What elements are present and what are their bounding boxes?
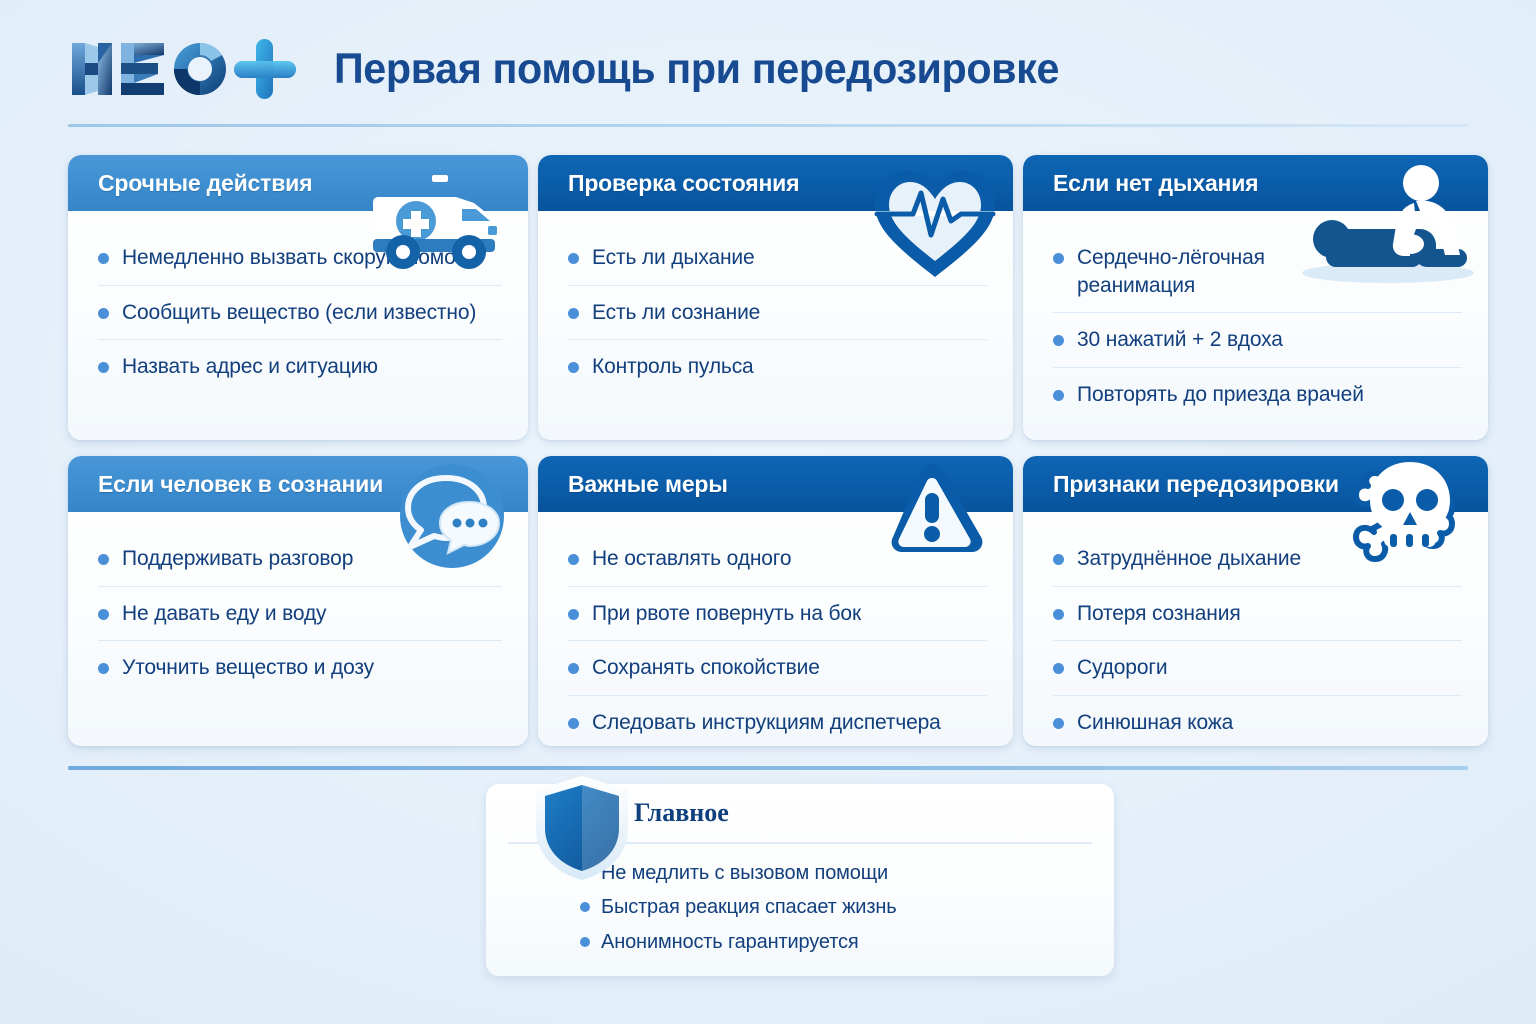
list-item-label: Уточнить вещество и дозу <box>122 654 374 682</box>
bullet-dot <box>98 609 109 620</box>
list-item[interactable]: Не давать еду и воду <box>98 587 502 642</box>
card-overdose-signs[interactable]: Признаки передозировки Затруднён <box>1023 456 1488 746</box>
header-divider <box>68 124 1468 127</box>
list-item[interactable]: Анонимность гарантируется <box>580 925 897 959</box>
list-item[interactable]: Синюшная кожа <box>1053 696 1462 750</box>
list-item[interactable]: Не оставлять одного <box>568 532 987 587</box>
page-title: Первая помощь при передозировке <box>334 45 1059 94</box>
bullet-dot <box>98 663 109 674</box>
list-item[interactable]: Уточнить вещество и дозу <box>98 641 502 695</box>
list-item-label: Повторять до приезда врачей <box>1077 381 1364 409</box>
list-item[interactable]: Контроль пульса <box>568 340 987 394</box>
list-item[interactable]: Поддерживать разговор <box>98 532 502 587</box>
list-item-label: Потеря сознания <box>1077 600 1241 628</box>
bullet-dot <box>580 902 590 912</box>
list-item-label: Затруднённое дыхание <box>1077 545 1301 573</box>
list-item-label: Синюшная кожа <box>1077 709 1233 737</box>
bullet-dot <box>1053 718 1064 729</box>
list-item-label: Контроль пульса <box>592 353 754 381</box>
list-item[interactable]: 30 нажатий + 2 вдоха <box>1053 313 1462 368</box>
bullet-dot <box>98 554 109 565</box>
list-item-label: Поддерживать разговор <box>122 545 353 573</box>
bullet-dot <box>568 308 579 319</box>
list-item-label: Следовать инструкциям диспетчера <box>592 709 941 737</box>
list-item[interactable]: Повторять до приезда врачей <box>1053 368 1462 422</box>
list-item-label: Сообщить вещество (если известно) <box>122 299 476 327</box>
list-item[interactable]: Есть ли дыхание <box>568 231 987 286</box>
footer-divider <box>68 766 1468 770</box>
list-item[interactable]: Потеря сознания <box>1053 587 1462 642</box>
list-item[interactable]: Быстрая реакция спасает жизнь <box>580 890 897 924</box>
list-item[interactable]: Сердечно-лёгочная реанимация <box>1053 231 1462 313</box>
card-header: Срочные действия <box>68 155 528 211</box>
bullet-dot <box>580 937 590 947</box>
list-item[interactable]: Затруднённое дыхание <box>1053 532 1462 587</box>
card-bullet-list: Поддерживать разговор Не давать еду и во… <box>98 532 502 695</box>
list-item-label: Есть ли сознание <box>592 299 760 327</box>
bullet-dot <box>1053 335 1064 346</box>
list-item-label: Сердечно-лёгочная реанимация <box>1077 244 1337 299</box>
list-item-label: Анонимность гарантируется <box>601 929 859 955</box>
list-item-label: Немедленно вызвать скорую помощь <box>122 244 484 272</box>
card-header: Если нет дыхания <box>1023 155 1488 211</box>
card-title: Если человек в сознании <box>98 471 383 498</box>
card-urgent-actions[interactable]: Срочные действия Немедленно вызвать <box>68 155 528 440</box>
bullet-dot <box>1053 390 1064 401</box>
list-item-label: Не давать еду и воду <box>122 600 326 628</box>
list-item-label: Не медлить с вызовом помощи <box>601 860 888 886</box>
list-item-label: 30 нажатий + 2 вдоха <box>1077 326 1283 354</box>
cards-grid: Срочные действия Немедленно вызвать <box>68 155 1468 746</box>
card-header: Важные меры <box>538 456 1013 512</box>
bullet-dot <box>568 609 579 620</box>
list-item-label: Быстрая реакция спасает жизнь <box>601 894 897 920</box>
bullet-dot <box>568 362 579 373</box>
card-condition-check[interactable]: Проверка состояния Есть ли дыхание Есть … <box>538 155 1013 440</box>
list-item[interactable]: Назвать адрес и ситуацию <box>98 340 502 394</box>
card-title: Признаки передозировки <box>1053 471 1339 498</box>
list-item[interactable]: При рвоте повернуть на бок <box>568 587 987 642</box>
summary-title: Главное <box>634 798 729 828</box>
card-bullet-list: Немедленно вызвать скорую помощь Сообщит… <box>98 231 502 394</box>
shield-icon <box>530 772 634 889</box>
card-bullet-list: Не оставлять одного При рвоте повернуть … <box>568 532 987 750</box>
neo-plus-logo <box>68 37 300 101</box>
bullet-dot <box>98 362 109 373</box>
list-item[interactable]: Судороги <box>1053 641 1462 696</box>
list-item-label: Не оставлять одного <box>592 545 791 573</box>
card-title: Срочные действия <box>98 170 312 197</box>
page-header: Первая помощь при передозировке <box>68 26 1468 112</box>
bullet-dot <box>98 308 109 319</box>
bullet-dot <box>1053 609 1064 620</box>
list-item[interactable]: Сообщить вещество (если известно) <box>98 286 502 341</box>
card-header: Признаки передозировки <box>1023 456 1488 512</box>
list-item-label: Есть ли дыхание <box>592 244 755 272</box>
card-header: Если человек в сознании <box>68 456 528 512</box>
list-item-label: Судороги <box>1077 654 1167 682</box>
bullet-dot <box>568 663 579 674</box>
summary-panel[interactable]: Главное Не медлить с вызовом помощи Быст… <box>486 784 1114 976</box>
list-item-label: При рвоте повернуть на бок <box>592 600 861 628</box>
list-item-label: Сохранять спокойствие <box>592 654 820 682</box>
card-bullet-list: Затруднённое дыхание Потеря сознания Суд… <box>1053 532 1462 750</box>
card-person-conscious[interactable]: Если человек в сознании Поддерживать раз… <box>68 456 528 746</box>
list-item-label: Назвать адрес и ситуацию <box>122 353 378 381</box>
card-header: Проверка состояния <box>538 155 1013 211</box>
list-item[interactable]: Немедленно вызвать скорую помощь <box>98 231 502 286</box>
bullet-dot <box>568 554 579 565</box>
card-title: Проверка состояния <box>568 170 799 197</box>
bullet-dot <box>1053 554 1064 565</box>
list-item[interactable]: Следовать инструкциям диспетчера <box>568 696 987 750</box>
card-title: Если нет дыхания <box>1053 170 1258 197</box>
bullet-dot <box>98 253 109 264</box>
card-important-measures[interactable]: Важные меры Не оставлять одного При рвот… <box>538 456 1013 746</box>
bullet-dot <box>1053 253 1064 264</box>
bullet-dot <box>568 718 579 729</box>
card-bullet-list: Есть ли дыхание Есть ли сознание Контрол… <box>568 231 987 394</box>
list-item[interactable]: Сохранять спокойствие <box>568 641 987 696</box>
card-title: Важные меры <box>568 471 728 498</box>
bullet-dot <box>1053 663 1064 674</box>
card-no-breathing[interactable]: Если нет дыхания Сердечно-лёгочная р <box>1023 155 1488 440</box>
bullet-dot <box>568 253 579 264</box>
card-bullet-list: Сердечно-лёгочная реанимация 30 нажатий … <box>1053 231 1462 422</box>
list-item[interactable]: Есть ли сознание <box>568 286 987 341</box>
